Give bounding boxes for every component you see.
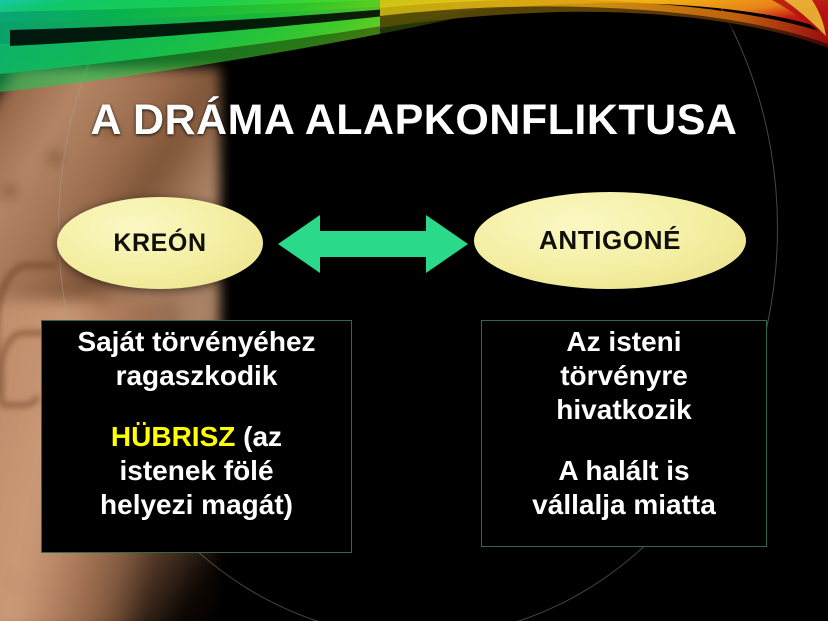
ellipse-kreon-label: KREÓN bbox=[113, 229, 206, 258]
page-title: A DRÁMA ALAPKONFLIKTUSA bbox=[0, 98, 828, 143]
ellipse-antigone[interactable]: ANTIGONÉ bbox=[474, 192, 746, 289]
kreon-line-3-rest: (az bbox=[235, 421, 282, 452]
ellipse-kreon[interactable]: KREÓN bbox=[57, 197, 263, 289]
double-headed-arrow-icon bbox=[278, 211, 468, 277]
antigone-line-4: A halált is bbox=[488, 454, 760, 488]
kreon-line-5: helyezi magát) bbox=[48, 488, 345, 522]
gold-red-ribbon-swoosh bbox=[380, 0, 828, 74]
ellipse-antigone-label: ANTIGONÉ bbox=[539, 225, 681, 256]
kreon-line-1: Saját törvényéhez bbox=[48, 325, 345, 359]
kreon-line-2: ragaszkodik bbox=[48, 359, 345, 393]
textbox-antigone: Az isteni törvényre hivatkozik A halált … bbox=[481, 320, 767, 547]
kreon-line-3: HÜBRISZ (az bbox=[48, 420, 345, 454]
antigone-line-1: Az isteni bbox=[488, 325, 760, 359]
antigone-line-2: törvényre bbox=[488, 359, 760, 393]
antigone-line-5: vállalja miatta bbox=[488, 488, 760, 522]
kreon-line-4: istenek fölé bbox=[48, 454, 345, 488]
presentation-slide: A DRÁMA ALAPKONFLIKTUSA KREÓN ANTIGONÉ S… bbox=[0, 0, 828, 621]
antigone-line-3: hivatkozik bbox=[488, 393, 760, 427]
kreon-highlight-hubrisz: HÜBRISZ bbox=[111, 421, 235, 452]
textbox-kreon: Saját törvényéhez ragaszkodik HÜBRISZ (a… bbox=[41, 320, 352, 553]
